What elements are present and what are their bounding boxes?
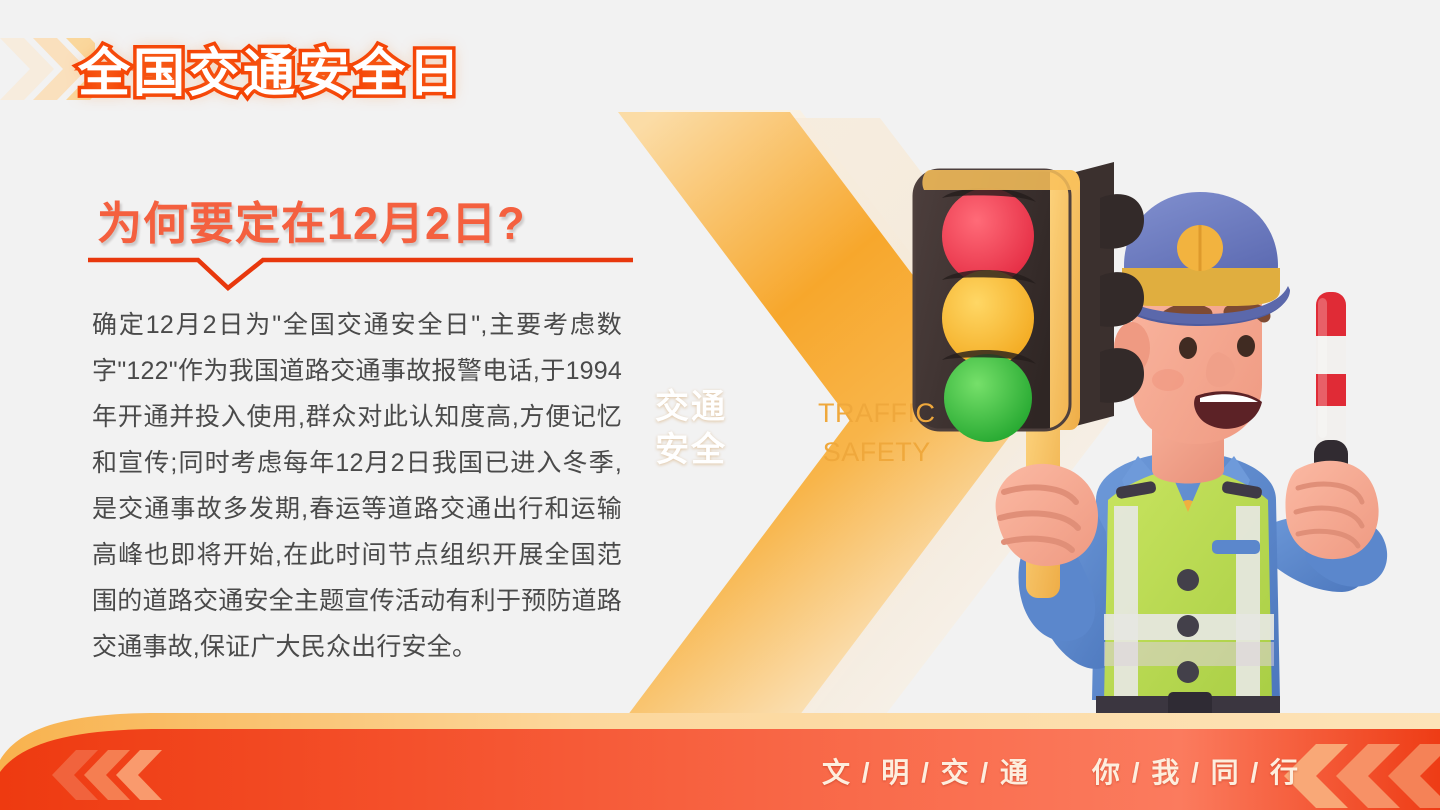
badge-en-line1: TRAFFIC: [818, 394, 936, 433]
heading-divider: [88, 252, 633, 292]
badge-en-label: TRAFFIC SAFETY: [818, 394, 936, 472]
officer-right-arm: [1252, 515, 1387, 592]
traffic-light-red: [942, 188, 1034, 284]
badge-cn-line1: 交通: [655, 386, 727, 429]
badge-cn-label: 交通 安全: [655, 386, 727, 471]
footer-banner: [0, 700, 1440, 810]
traffic-officer-illustration: [900, 140, 1440, 740]
body-paragraph: 确定12月2日为"全国交通安全日",主要考虑数字"122"作为我国道路交通事故报…: [92, 302, 622, 670]
officer-head: [1114, 206, 1264, 444]
officer-torso: [1092, 452, 1280, 700]
badge-en-line2: SAFETY: [818, 433, 936, 472]
section-heading: 为何要定在12月2日?: [97, 187, 526, 252]
traffic-light-pole: [1026, 408, 1060, 598]
traffic-light-yellow: [942, 270, 1034, 366]
officer-right-hand: [1285, 461, 1378, 559]
traffic-light-green: [944, 354, 1032, 442]
officer-cap: [1112, 192, 1290, 326]
footer-right-chevrons: [1284, 744, 1440, 808]
traffic-light: [914, 162, 1144, 442]
officer-left-hand: [996, 464, 1098, 566]
officer-neck: [1152, 412, 1224, 484]
officer-left-arm: [1018, 496, 1126, 669]
badge-cn-line2: 安全: [655, 429, 727, 472]
page-title: 全国交通安全日: [78, 46, 463, 103]
slide-root: 全国交通安全日: [0, 0, 1440, 810]
officer-safety-vest: [1104, 470, 1274, 702]
police-baton: [1314, 292, 1348, 550]
